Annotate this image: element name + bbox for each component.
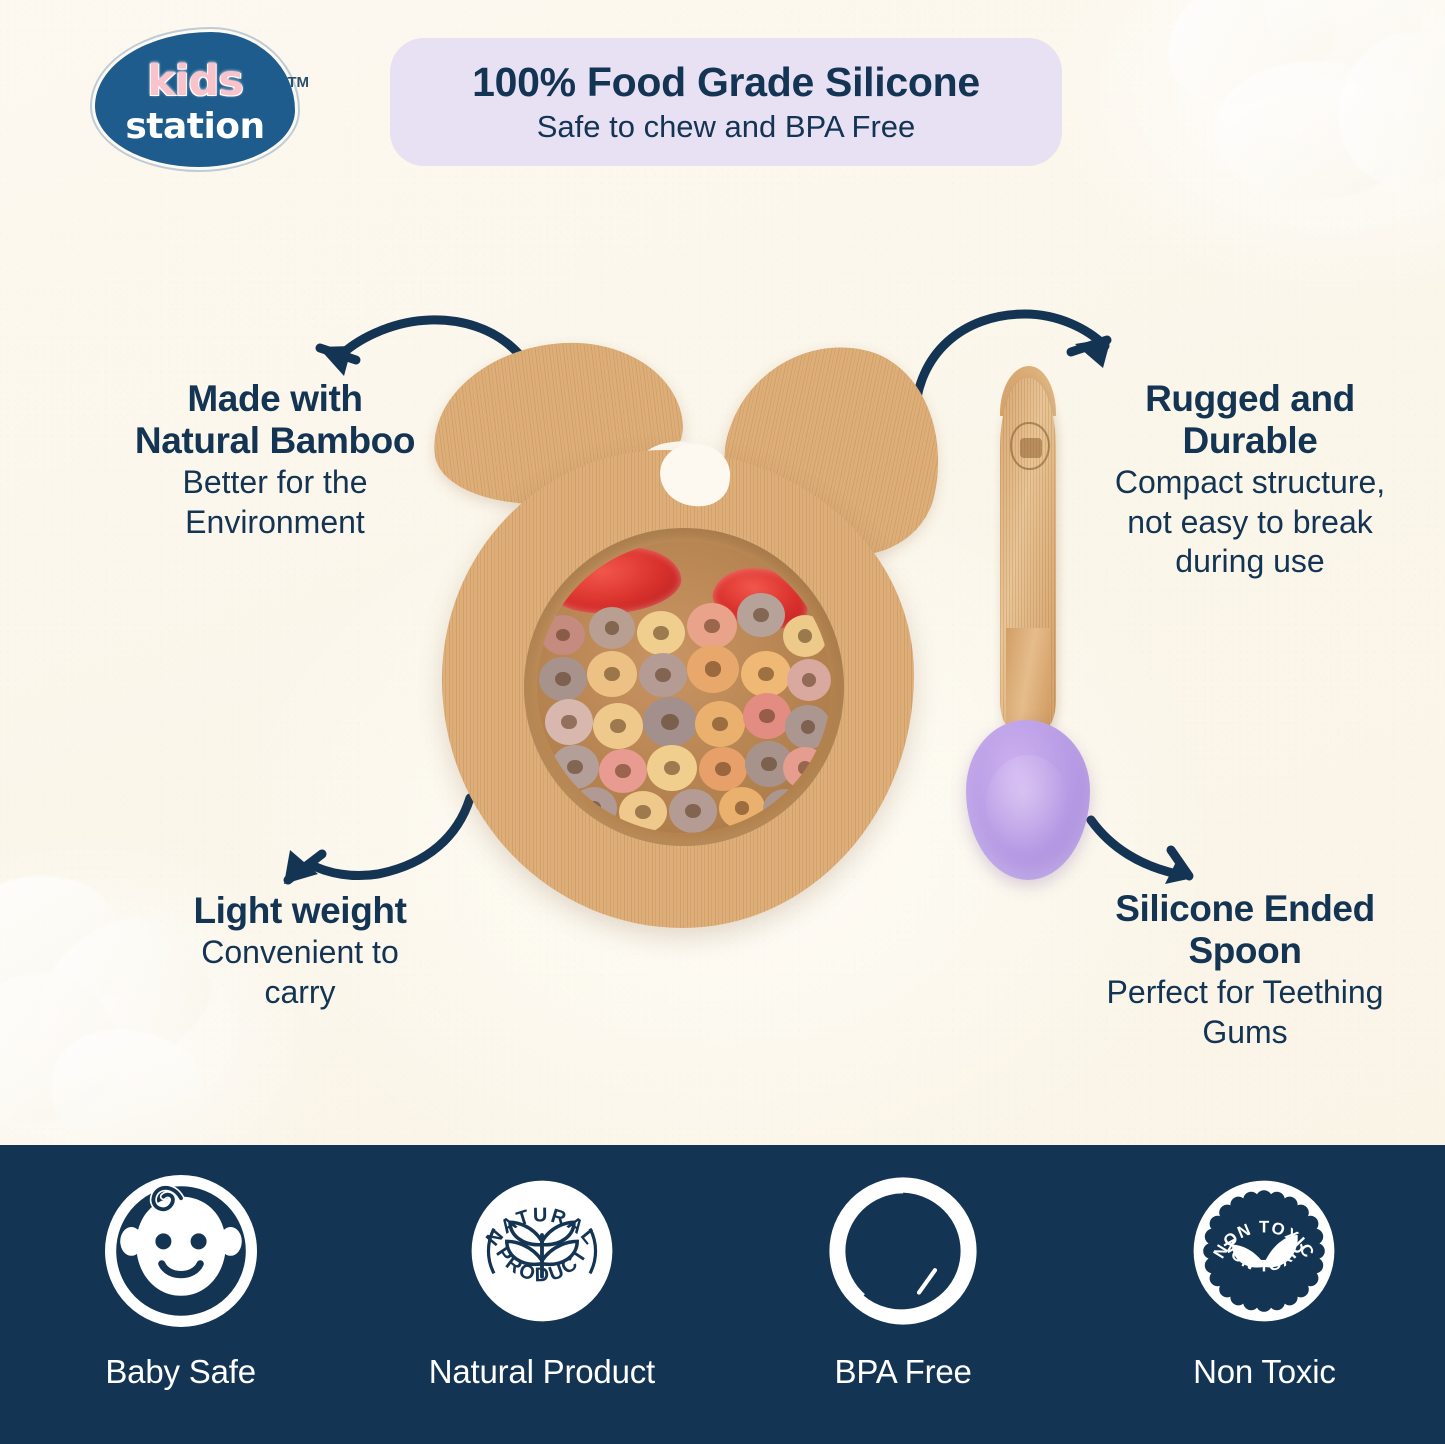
bunny-bamboo-plate (432, 340, 942, 932)
feature-title-line1: Silicone Ended (1070, 888, 1420, 930)
cereal-loop (719, 787, 765, 829)
cereal-loop (599, 749, 647, 793)
feature-subtitle-line1: Better for the (100, 463, 450, 501)
feature-subtitle-line2: not easy to break (1085, 503, 1415, 541)
logo-secondary-text: station (95, 106, 295, 147)
floral-decoration-top-right (1155, 0, 1445, 240)
badge-natural-product: NATURAL PRODUCT Natural Prod (397, 1171, 687, 1391)
feature-rugged-durable: Rugged and Durable Compact structure, no… (1085, 378, 1415, 581)
headline-banner: 100% Food Grade Silicone Safe to chew an… (390, 38, 1062, 166)
cereal-loop (787, 659, 831, 701)
cereal-loop (589, 607, 635, 649)
natural-product-seal-icon: NATURAL PRODUCT (462, 1171, 622, 1331)
cereal-loop (737, 593, 785, 637)
cereal-loop (783, 615, 827, 657)
cereal-loop (669, 789, 717, 833)
cereal-loop (783, 747, 827, 789)
trust-badge-footer: Baby Safe NATURAL PROD (0, 1145, 1445, 1444)
feature-title-line2: Durable (1085, 420, 1415, 462)
spoon-brand-engraving-icon (1010, 422, 1050, 470)
brand-logo[interactable]: kids station TM (95, 32, 295, 167)
cereal-loop (743, 693, 791, 739)
cereal-loop (741, 651, 791, 697)
plate-bowl-cavity (524, 528, 844, 846)
feature-subtitle-line3: during use (1085, 542, 1415, 580)
badge-label: Non Toxic (1193, 1353, 1336, 1391)
feature-subtitle-line2: Gums (1070, 1013, 1420, 1051)
feature-subtitle-line1: Perfect for Teething (1070, 973, 1420, 1011)
cereal-loop (763, 789, 807, 829)
feature-title-line2: Spoon (1070, 930, 1420, 972)
cereal-loop (551, 745, 599, 789)
cereal-loop (643, 697, 697, 747)
badge-label: Baby Safe (105, 1353, 255, 1391)
feature-title-line2: Natural Bamboo (100, 420, 450, 462)
cereal-loop (541, 615, 585, 655)
cereal-loop (695, 701, 745, 747)
feature-title-line1: Made with (100, 378, 450, 420)
banner-title: 100% Food Grade Silicone (472, 60, 980, 105)
cereal-loop (687, 603, 737, 649)
feature-subtitle-line2: carry (130, 973, 470, 1011)
badge-label: BPA Free (835, 1353, 972, 1391)
trademark-symbol: TM (287, 74, 309, 91)
feature-natural-bamboo: Made with Natural Bamboo Better for the … (100, 378, 450, 541)
feature-light-weight: Light weight Convenient to carry (130, 890, 470, 1011)
cereal-loop (571, 787, 617, 829)
feature-title-line1: Rugged and (1085, 378, 1415, 420)
feature-subtitle-line2: Environment (100, 503, 450, 541)
baby-face-icon (101, 1171, 261, 1331)
cereal-loop (785, 705, 831, 749)
cereal-loop (593, 703, 643, 749)
cereal-loop (647, 745, 697, 791)
cereal-loop (637, 611, 685, 655)
cereal-loop (699, 747, 747, 791)
cereal-loop (687, 645, 739, 693)
bpa-free-icon: BPA FREE (823, 1171, 983, 1331)
cereal-loop (587, 651, 637, 697)
badge-bpa-free: BPA FREE BPA Free (758, 1171, 1048, 1391)
badge-baby-safe: Baby Safe (36, 1171, 326, 1391)
product-infographic: kids station TM 100% Food Grade Silicone… (0, 0, 1445, 1444)
feature-subtitle-line1: Convenient to (130, 933, 470, 971)
cereal-loop (539, 657, 587, 701)
spoon-silicone-head (966, 720, 1090, 880)
badge-non-toxic: NON TOXIC NON TOXIC Non Toxic (1119, 1171, 1409, 1391)
logo-primary-text: kids (95, 56, 295, 106)
non-toxic-seal-icon: NON TOXIC NON TOXIC (1184, 1171, 1344, 1331)
cereal-loop (545, 699, 593, 745)
bowl-interior (537, 541, 831, 833)
feature-silicone-spoon: Silicone Ended Spoon Perfect for Teethin… (1070, 888, 1420, 1051)
feature-title-line1: Light weight (130, 890, 470, 932)
cereal-loop (619, 791, 667, 833)
cereal-loop (639, 653, 687, 697)
bamboo-silicone-spoon (968, 378, 1088, 878)
feature-subtitle-line1: Compact structure, (1085, 463, 1415, 501)
badge-label: Natural Product (429, 1353, 655, 1391)
banner-subtitle: Safe to chew and BPA Free (537, 110, 916, 144)
